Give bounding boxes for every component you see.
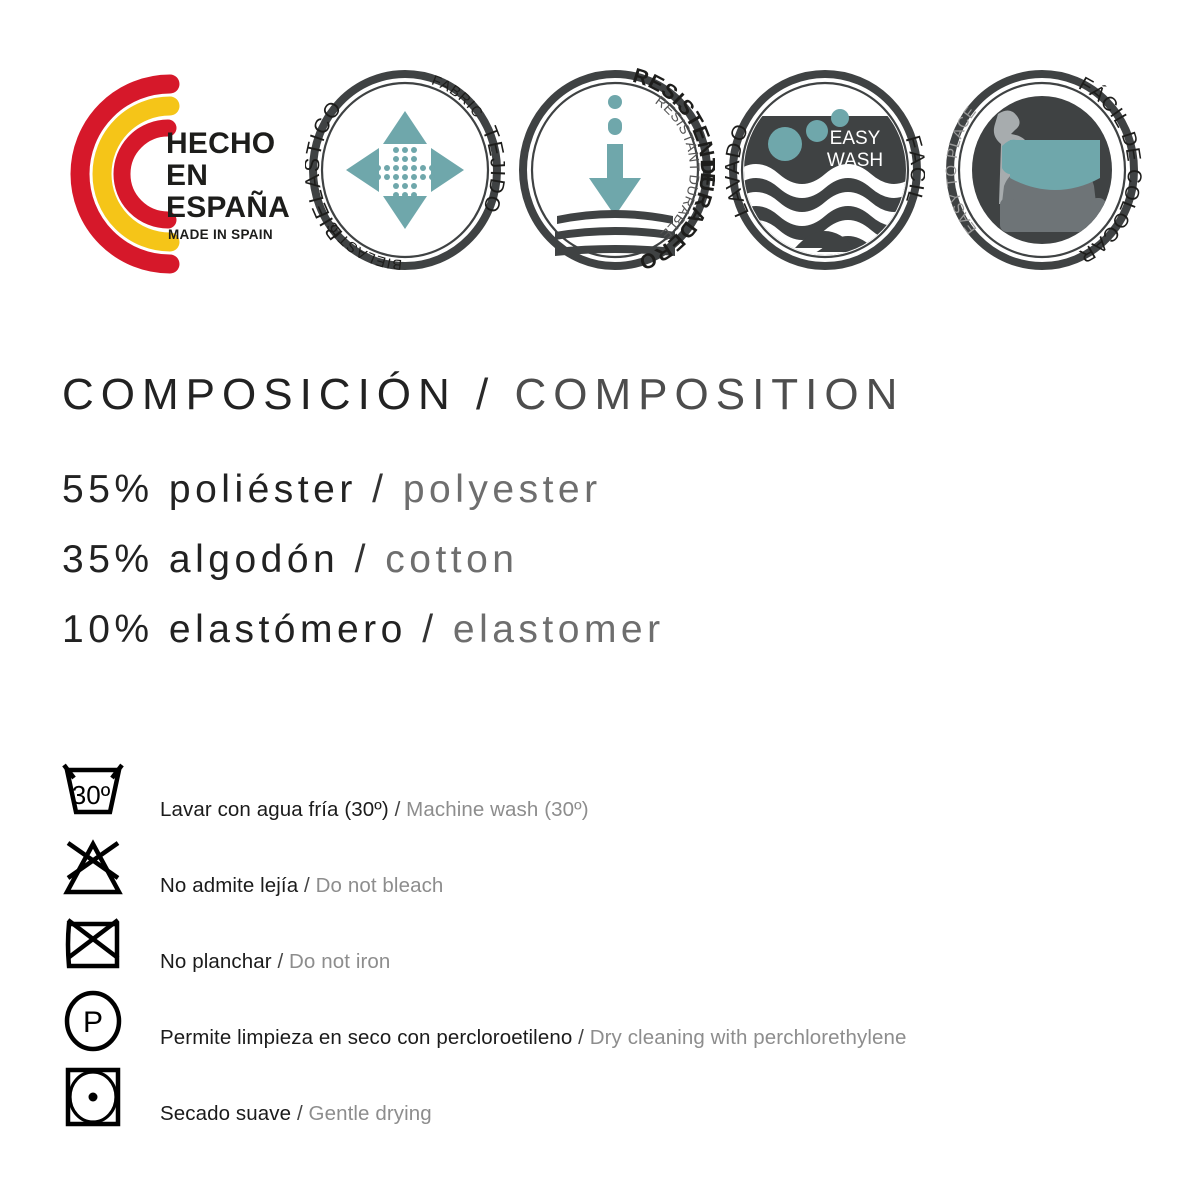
composition-item-es: algodón <box>169 538 339 581</box>
badge-facil-de-colocar-graphic: FÁCIL DE COLOCAR EASY TO PLACE <box>942 66 1142 274</box>
badge-tejido-bielastico-graphic: TEJIDO BIELÁSTICO FABRIC BIELASTIC <box>305 66 505 274</box>
composition-item: 35% algodón / cotton <box>62 538 1142 582</box>
care-text-en: Machine wash (30º) <box>406 798 588 821</box>
care-row-text: Lavar con agua fría (30º) / Machine wash… <box>160 798 589 822</box>
care-text-en: Do not iron <box>289 950 390 973</box>
care-row: 30º Lavar con agua fría (30º) / Machine … <box>60 762 1160 838</box>
logo-line-1: HECHO <box>166 128 306 160</box>
gentle-tumble-dry-icon <box>60 1066 126 1132</box>
care-text-separator: / <box>578 1026 584 1049</box>
composition-title-es: COMPOSICIÓN <box>62 370 457 419</box>
badge3-inner-line2: WASH <box>827 150 883 171</box>
care-row: P Permite limpieza en seco con percloroe… <box>60 990 1160 1066</box>
care-row: No planchar / Do not iron <box>60 914 1160 990</box>
care-text-separator: / <box>304 874 310 897</box>
composition-item-percent: 55% <box>62 468 154 511</box>
care-row-text: No admite lejía / Do not bleach <box>160 874 443 898</box>
composition-item-percent: 35% <box>62 538 154 581</box>
do-not-iron-icon <box>60 914 126 980</box>
composition-item-es: poliéster <box>169 468 357 511</box>
composition-list: 55% poliéster / polyester 35% algodón / … <box>62 468 1142 652</box>
care-text-separator: / <box>395 798 401 821</box>
made-in-spain-text: HECHO EN ESPAÑA <box>166 128 306 223</box>
do-not-bleach-icon <box>60 838 126 904</box>
care-instructions-section: 30º Lavar con agua fría (30º) / Machine … <box>60 762 1160 1142</box>
wash-temp-label: 30º <box>72 780 111 810</box>
composition-title-en: COMPOSITION <box>515 370 905 419</box>
dry-clean-perchlorethylene-icon: P <box>60 990 126 1056</box>
composition-title: COMPOSICIÓN / COMPOSITION <box>62 370 1142 420</box>
badge-facil-lavado-graphic: FÁCIL LAVADO EASY WASH <box>725 66 925 274</box>
composition-item-separator: / <box>422 608 437 651</box>
care-text-es: Lavar con agua fría (30º) <box>160 798 389 821</box>
care-text-es: Secado suave <box>160 1102 291 1125</box>
badge1-left-label: FABRIC <box>429 73 486 122</box>
care-text-es: Permite limpieza en seco con percloroeti… <box>160 1026 572 1049</box>
logo-subtitle: MADE IN SPAIN <box>168 227 308 242</box>
composition-item-en: polyester <box>403 468 602 511</box>
care-text-en: Dry cleaning with perchlorethylene <box>590 1026 907 1049</box>
dry-clean-letter: P <box>83 1006 103 1039</box>
care-text-en: Do not bleach <box>316 874 444 897</box>
svg-text:BIELÁSTICO: BIELÁSTICO <box>305 96 347 244</box>
care-text-es: No planchar <box>160 950 272 973</box>
care-text-es: No admite lejía <box>160 874 298 897</box>
badge-resistente-duradero: RESISTENTE DURADERO RESISTANT DURABLE <box>515 66 715 274</box>
composition-title-separator: / <box>476 370 495 419</box>
badge3-inner-line1: EASY <box>830 128 881 149</box>
care-text-en: Gentle drying <box>309 1102 432 1125</box>
badge-facil-lavado: FÁCIL LAVADO EASY WASH <box>725 66 925 274</box>
machine-wash-30-icon: 30º <box>60 762 126 828</box>
care-row-text: Secado suave / Gentle drying <box>160 1102 432 1126</box>
care-row-text: Permite limpieza en seco con percloroeti… <box>160 1026 906 1050</box>
composition-item-es: elastómero <box>169 608 407 651</box>
composition-item-percent: 10% <box>62 608 154 651</box>
badge-resistente-duradero-graphic: RESISTENTE DURADERO RESISTANT DURABLE <box>515 66 715 274</box>
composition-item-separator: / <box>355 538 370 581</box>
care-text-separator: / <box>277 950 283 973</box>
composition-item: 55% poliéster / polyester <box>62 468 1142 512</box>
care-text-separator: / <box>297 1102 303 1125</box>
badge-tejido-bielastico: TEJIDO BIELÁSTICO FABRIC BIELASTIC <box>305 66 505 274</box>
made-in-spain-logo: HECHO EN ESPAÑA MADE IN SPAIN <box>58 72 293 277</box>
svg-text:FABRIC: FABRIC <box>429 73 486 122</box>
composition-section: COMPOSICIÓN / COMPOSITION 55% poliéster … <box>62 370 1142 652</box>
composition-item-en: elastomer <box>453 608 665 651</box>
badge-facil-de-colocar: FÁCIL DE COLOCAR EASY TO PLACE <box>942 66 1142 274</box>
composition-item-separator: / <box>372 468 387 511</box>
care-row: No admite lejía / Do not bleach <box>60 838 1160 914</box>
badge1-bottom-label: BIELÁSTICO <box>305 96 347 244</box>
care-row-text: No planchar / Do not iron <box>160 950 390 974</box>
logo-line-2: EN ESPAÑA <box>166 160 306 224</box>
composition-item-en: cotton <box>385 538 518 581</box>
care-row: Secado suave / Gentle drying <box>60 1066 1160 1142</box>
composition-item: 10% elastómero / elastomer <box>62 608 1142 652</box>
badge-strip: HECHO EN ESPAÑA MADE IN SPAIN <box>0 60 1200 290</box>
